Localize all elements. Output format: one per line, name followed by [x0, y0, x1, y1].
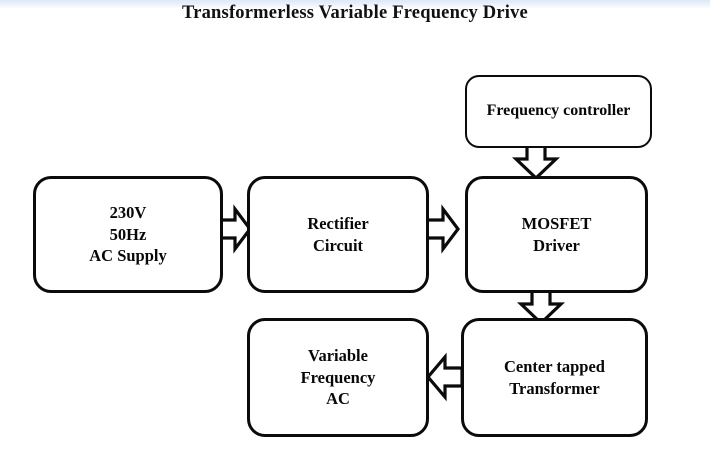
- block-variable-frequency-ac-line-1: Variable: [308, 345, 368, 366]
- block-mosfet-driver-line-1: MOSFET: [522, 213, 592, 234]
- block-frequency-controller[interactable]: Frequency controller: [465, 75, 652, 148]
- block-variable-frequency-ac-line-3: AC: [326, 388, 350, 409]
- block-center-tapped-transformer-line-1: Center tapped: [504, 356, 605, 377]
- block-variable-frequency-ac-line-2: Frequency: [301, 367, 376, 388]
- block-mosfet-driver[interactable]: MOSFET Driver: [465, 176, 648, 293]
- block-rectifier-line-1: Rectifier: [307, 213, 368, 234]
- block-ac-supply[interactable]: 230V 50Hz AC Supply: [33, 176, 223, 293]
- diagram-canvas: Transformerless Variable Frequency Drive…: [0, 0, 710, 460]
- block-rectifier-line-2: Circuit: [313, 235, 363, 256]
- block-variable-frequency-ac[interactable]: Variable Frequency AC: [247, 318, 429, 437]
- block-mosfet-driver-line-2: Driver: [533, 235, 580, 256]
- page-title: Transformerless Variable Frequency Drive: [0, 3, 710, 24]
- arrow-transformer-to-output-icon: [424, 353, 464, 401]
- block-rectifier-circuit[interactable]: Rectifier Circuit: [247, 176, 429, 293]
- block-ac-supply-line-3: AC Supply: [89, 245, 167, 266]
- block-ac-supply-line-1: 230V: [110, 202, 147, 223]
- arrow-rectifier-to-driver-icon: [424, 205, 460, 253]
- block-center-tapped-transformer-line-2: Transformer: [509, 378, 599, 399]
- block-center-tapped-transformer[interactable]: Center tapped Transformer: [461, 318, 648, 437]
- block-ac-supply-line-2: 50Hz: [110, 224, 147, 245]
- block-frequency-controller-line-1: Frequency controller: [487, 101, 631, 122]
